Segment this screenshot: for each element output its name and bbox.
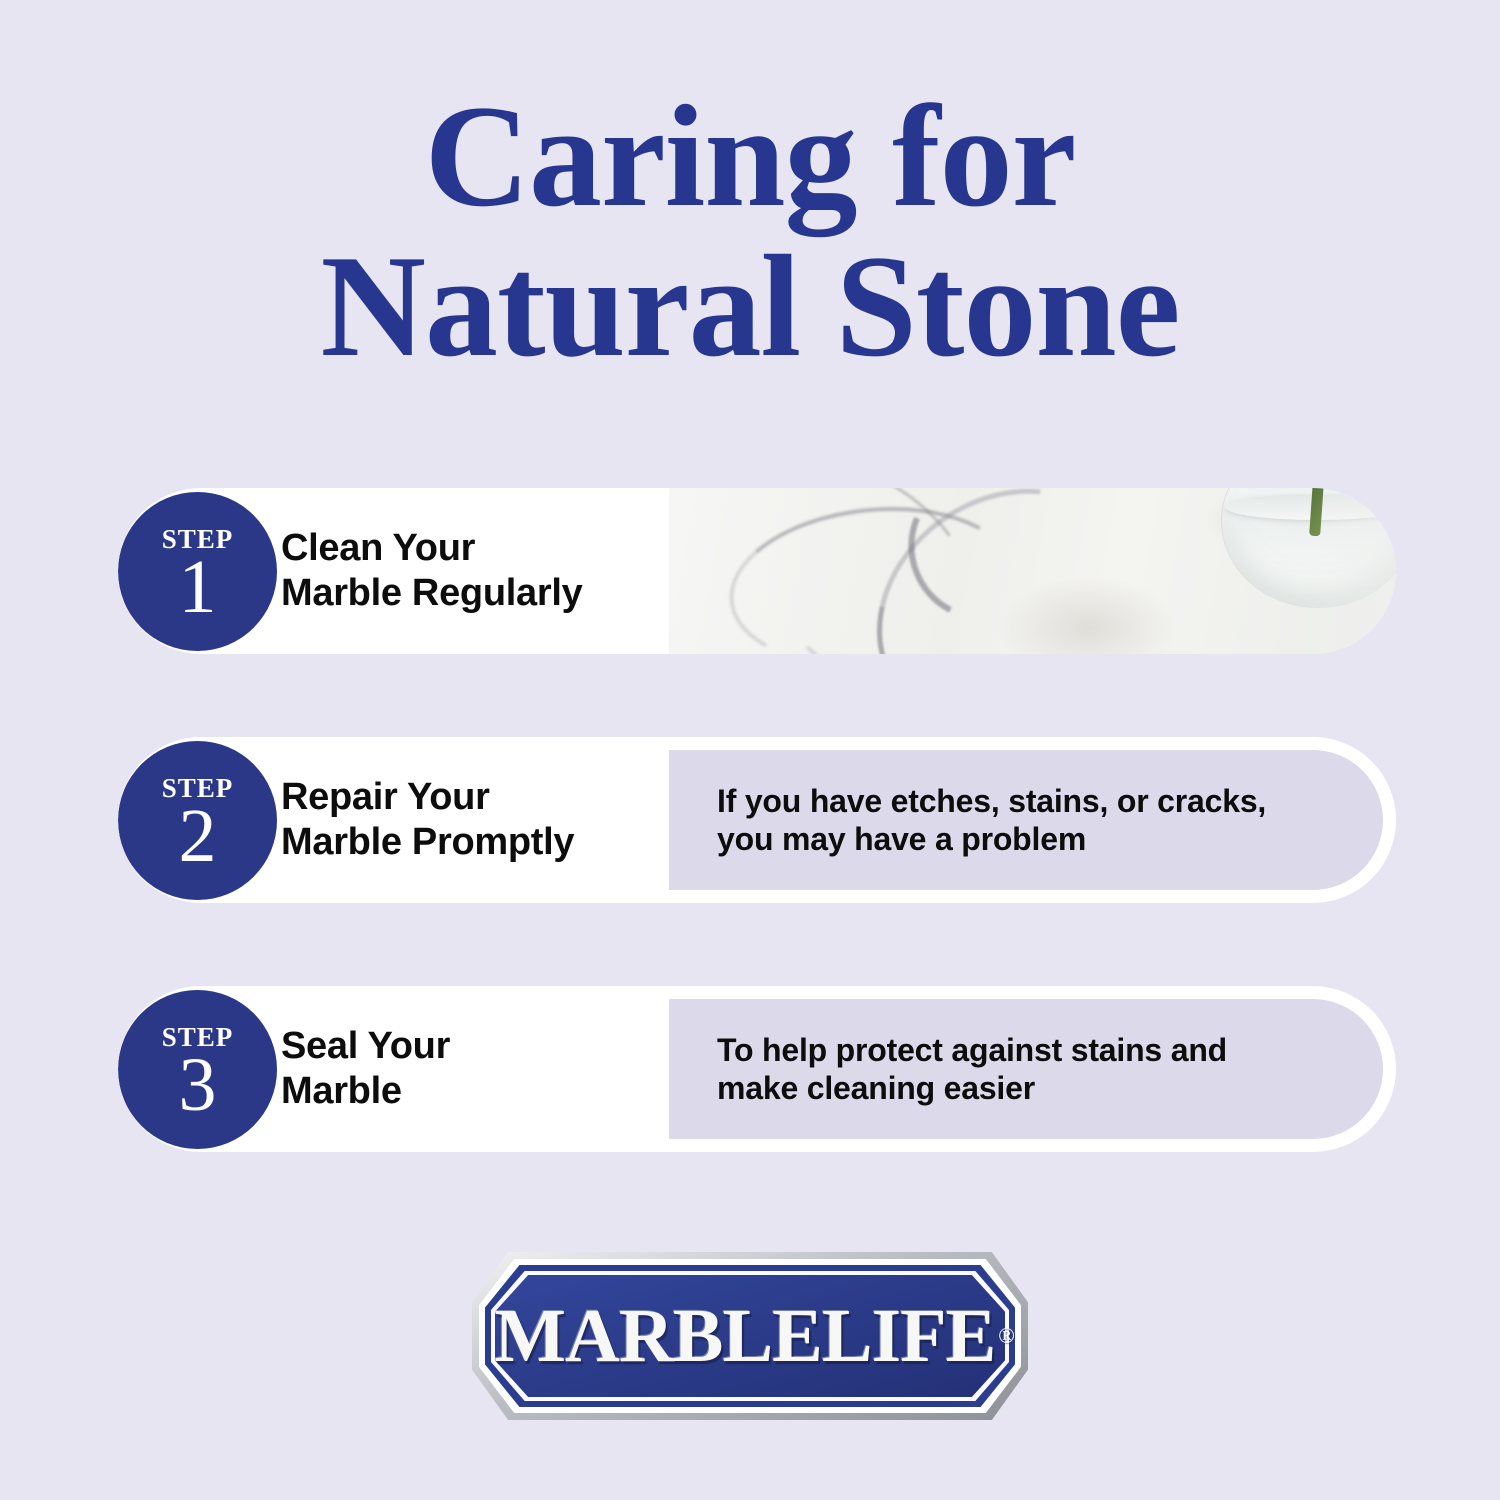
- step-media-1: [669, 488, 1396, 654]
- step-badge-number: 3: [179, 1049, 217, 1121]
- logo-wordmark: MARBLELIFE®: [472, 1252, 1028, 1420]
- step-detail-panel: If you have etches, stains, or cracks, y…: [669, 750, 1383, 890]
- step-badge-number: 1: [179, 551, 217, 623]
- photo-edge-fade: [1306, 488, 1396, 654]
- step-badge-1: STEP 1: [118, 492, 277, 651]
- step-detail-3: To help protect against stains and make …: [669, 986, 1396, 1152]
- marblelife-logo: MARBLELIFE®: [472, 1252, 1028, 1420]
- step-detail-panel: To help protect against stains and make …: [669, 999, 1383, 1139]
- step-description-2: If you have etches, stains, or cracks, y…: [669, 782, 1296, 859]
- steps-list: STEP 1 Clean Your Marble Regularly STEP …: [118, 488, 1396, 1152]
- step-badge-number: 2: [179, 800, 217, 872]
- step-description-3: To help protect against stains and make …: [669, 1031, 1257, 1108]
- step-title-1: Clean Your Marble Regularly: [281, 526, 582, 616]
- step-badge-3: STEP 3: [118, 990, 277, 1149]
- title-line-1: Caring for: [0, 86, 1500, 228]
- step-card-3[interactable]: STEP 3 Seal Your Marble To help protect …: [118, 986, 1396, 1152]
- registered-trademark-icon: ®: [998, 1323, 1013, 1349]
- marble-photo: [669, 488, 1396, 654]
- page-title: Caring for Natural Stone: [0, 86, 1500, 377]
- step-title-3: Seal Your Marble: [281, 1024, 450, 1114]
- logo-name: MARBLELIFE: [494, 1293, 995, 1380]
- step-badge-2: STEP 2: [118, 741, 277, 900]
- step-detail-2: If you have etches, stains, or cracks, y…: [669, 737, 1396, 903]
- title-line-2: Natural Stone: [0, 236, 1500, 378]
- step-card-1[interactable]: STEP 1 Clean Your Marble Regularly: [118, 488, 1396, 654]
- step-card-2[interactable]: STEP 2 Repair Your Marble Promptly If yo…: [118, 737, 1396, 903]
- step-title-2: Repair Your Marble Promptly: [281, 775, 574, 865]
